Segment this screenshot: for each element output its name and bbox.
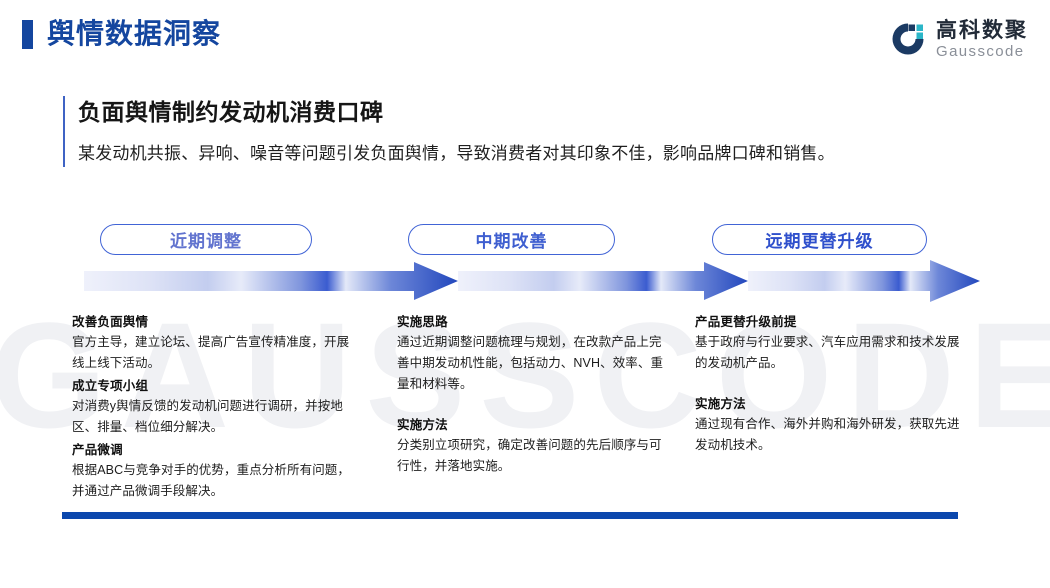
section-body: 分类别立项研究，确定改善问题的先后顺序与可行性，并落地实施。	[397, 435, 665, 477]
section-body: 官方主导，建立论坛、提高广告宣传精准度，开展线上线下活动。	[72, 332, 352, 374]
section-title: 实施方法	[695, 394, 960, 414]
footer-accent-bar	[62, 512, 958, 519]
page-title: 舆情数据洞察	[47, 14, 221, 54]
section-title: 实施思路	[397, 312, 665, 332]
headline-block: 负面舆情制约发动机消费口碑 某发动机共振、异响、噪音等问题引发负面舆情，导致消费…	[63, 96, 978, 167]
section-body: 对消费y舆情反馈的发动机问题进行调研，并按地区、排量、档位细分解决。	[72, 396, 352, 438]
stage-pill-near-term[interactable]: 近期调整	[100, 224, 312, 255]
stage-pill-long-term[interactable]: 远期更替升级	[712, 224, 927, 255]
detail-columns: 改善负面舆情 官方主导，建立论坛、提高广告宣传精准度，开展线上线下活动。 成立专…	[0, 312, 1050, 502]
headline-subtitle: 某发动机共振、异响、噪音等问题引发负面舆情，导致消费者对其印象不佳，影响品牌口碑…	[78, 141, 978, 167]
logo-wordmark: 高科数聚 Gausscode	[936, 20, 1028, 59]
detail-column-long-term: 产品更替升级前提 基于政府与行业要求、汽车应用需求和技术发展的发动机产品。 实施…	[695, 312, 960, 456]
section-title: 产品微调	[72, 440, 352, 460]
stage-pill-label: 中期改善	[476, 227, 548, 252]
section-body: 通过近期调整问题梳理与规划，在改款产品上完善中期发动机性能，包括动力、NVH、效…	[397, 332, 665, 395]
stage-pill-mid-term[interactable]: 中期改善	[408, 224, 615, 255]
timeline-arrow	[84, 258, 984, 304]
slide-canvas: GAUSSCODE 舆情数据洞察 高科数聚 Gausscode 负面舆情制约发动…	[0, 0, 1050, 588]
logo-english-name: Gausscode	[936, 44, 1028, 59]
section-title: 产品更替升级前提	[695, 312, 960, 332]
header-marker-icon	[22, 20, 33, 49]
section-body: 根据ABC与竞争对手的优势，重点分析所有问题，并通过产品微调手段解决。	[72, 460, 352, 502]
gausscode-logo-icon	[889, 20, 927, 58]
section-title: 实施方法	[397, 415, 665, 435]
detail-column-mid-term: 实施思路 通过近期调整问题梳理与规划，在改款产品上完善中期发动机性能，包括动力、…	[397, 312, 665, 477]
logo-chinese-name: 高科数聚	[936, 20, 1028, 41]
detail-column-near-term: 改善负面舆情 官方主导，建立论坛、提高广告宣传精准度，开展线上线下活动。 成立专…	[72, 312, 352, 502]
section-body: 基于政府与行业要求、汽车应用需求和技术发展的发动机产品。	[695, 332, 960, 374]
company-logo: 高科数聚 Gausscode	[889, 16, 1028, 62]
section-title: 成立专项小组	[72, 376, 352, 396]
headline-title: 负面舆情制约发动机消费口碑	[78, 96, 978, 128]
stage-pill-label: 远期更替升级	[766, 227, 874, 252]
section-title: 改善负面舆情	[72, 312, 352, 332]
section-body: 通过现有合作、海外并购和海外研发，获取先进发动机技术。	[695, 414, 960, 456]
stage-pill-label: 近期调整	[170, 227, 242, 252]
